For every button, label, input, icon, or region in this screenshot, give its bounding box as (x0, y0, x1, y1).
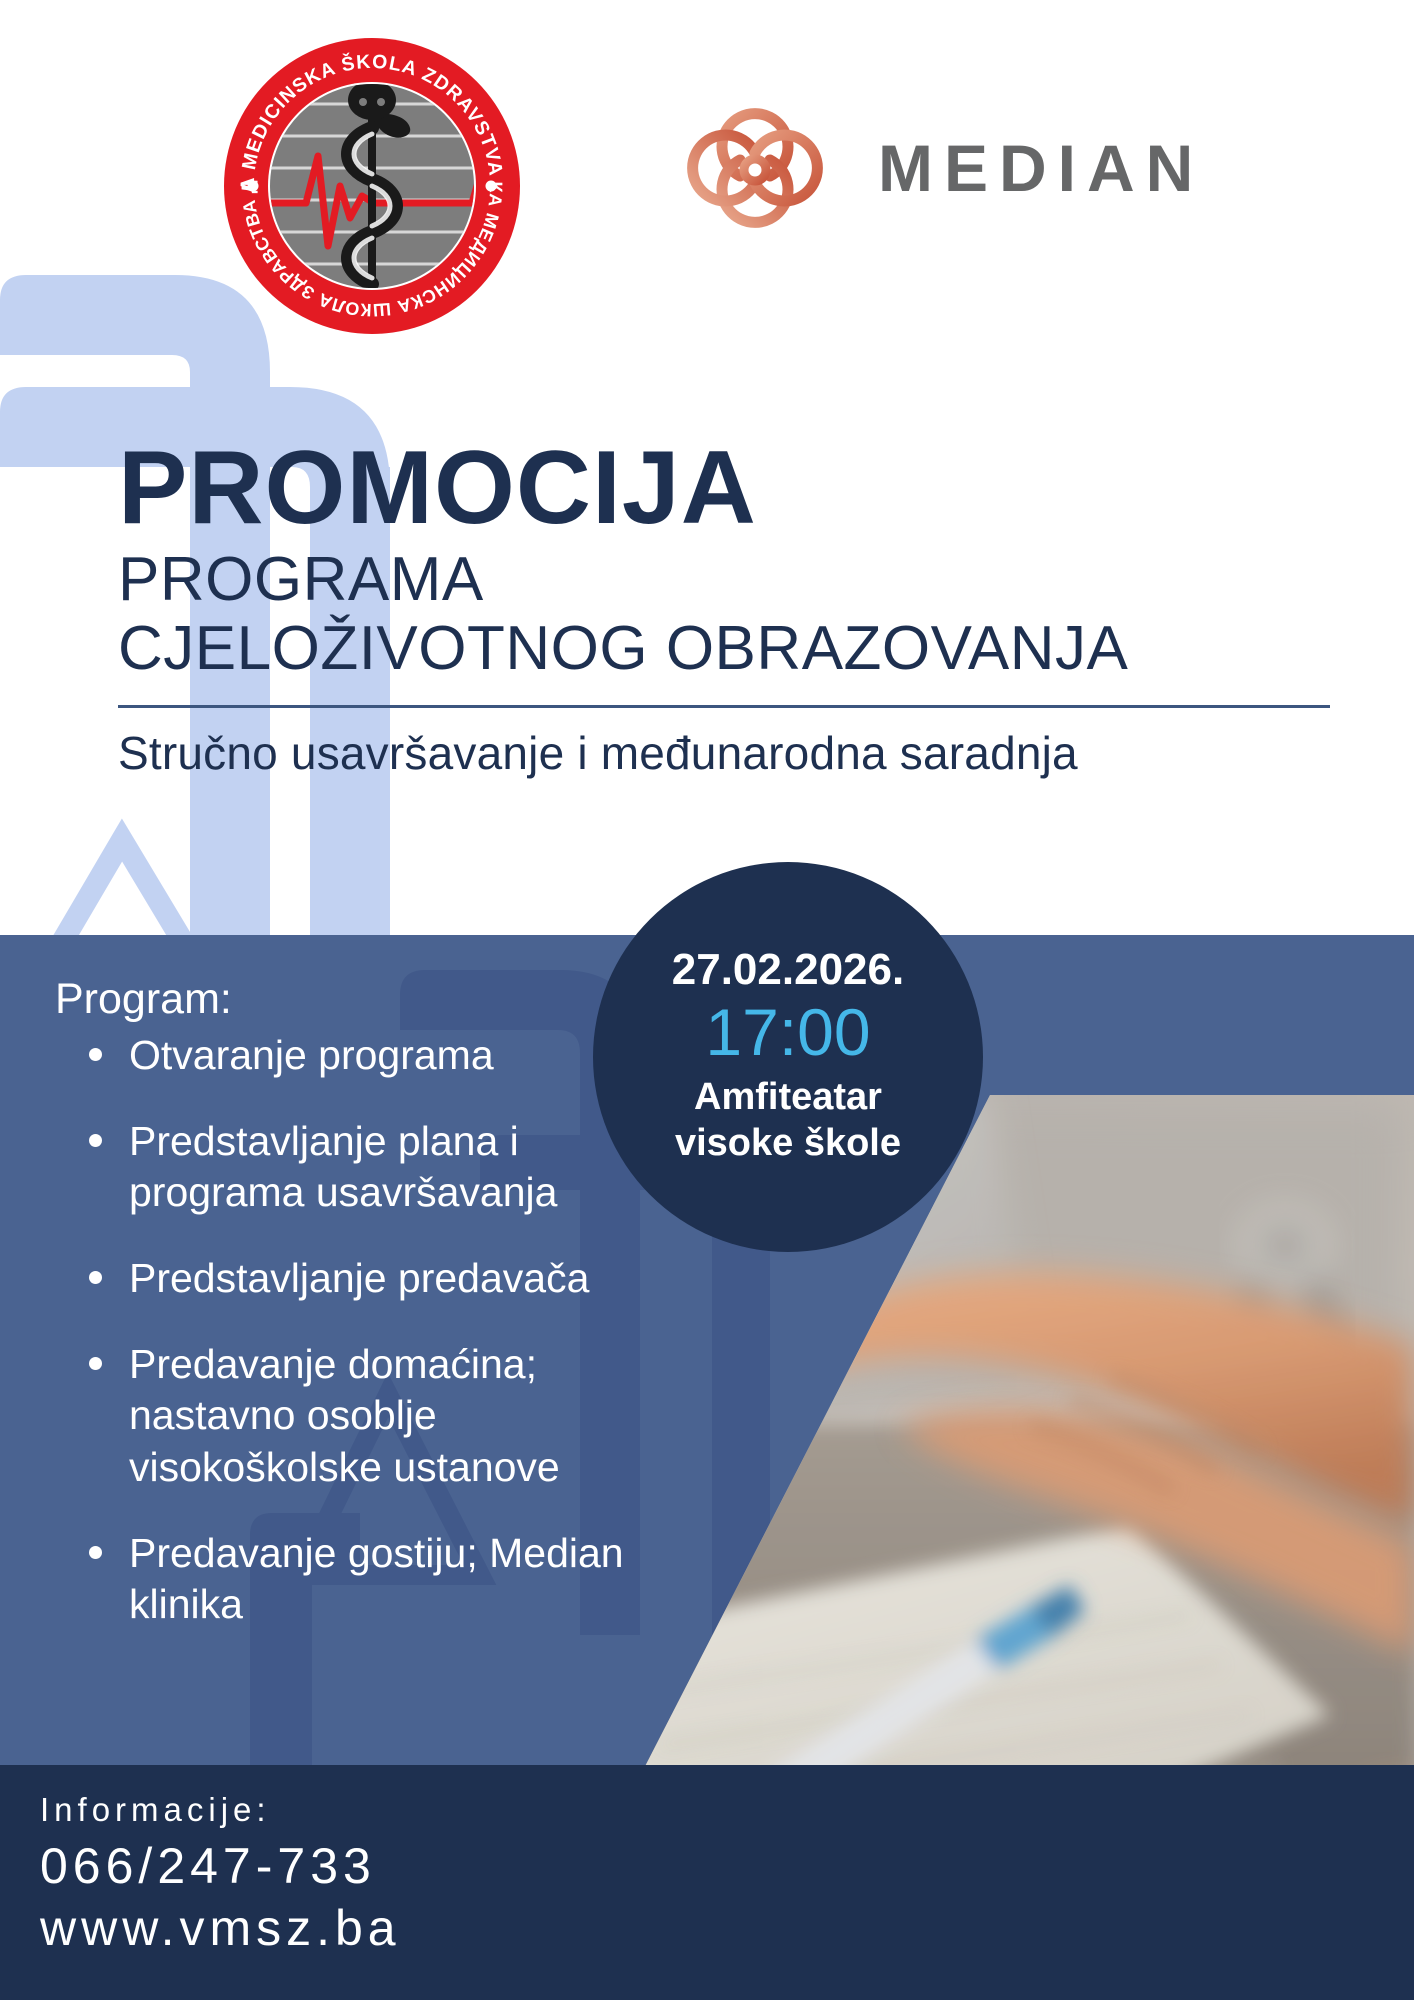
title-block: PROMOCIJA PROGRAMA CJELOŽIVOTNOG OBRAZOV… (118, 435, 1328, 780)
title-line-3: CJELOŽIVOTNOG OBRAZOVANJA (118, 616, 1328, 683)
title-tagline: Stručno usavršavanje i međunarodna sarad… (118, 726, 1328, 780)
bullet-icon (89, 1546, 102, 1559)
program-list: Otvaranje programa Predstavljanje plana … (55, 1030, 695, 1631)
event-date: 27.02.2026. (672, 948, 904, 992)
list-item-label: Predavanje domaćina; nastavno osoblje vi… (129, 1341, 560, 1490)
title-divider (118, 705, 1330, 708)
title-line-2: PROGRAMA (118, 547, 1328, 614)
list-item-label: Predstavljanje plana i programa usavršav… (129, 1118, 557, 1216)
contact-phone[interactable]: 066/247-733 (40, 1837, 401, 1895)
list-item: Predstavljanje plana i programa usavršav… (81, 1116, 695, 1219)
event-location-line2: visoke škole (675, 1121, 901, 1167)
median-clover-icon (660, 78, 850, 258)
median-wordmark: MEDIAN (878, 135, 1204, 201)
list-item: Predstavljanje predavača (81, 1253, 695, 1305)
info-label: Informacije: (40, 1791, 401, 1829)
poster-root: VISOKA MEDICINSKA ŠKOLA ZDRAVSTVA DOBOJ … (0, 0, 1414, 2000)
bullet-icon (89, 1271, 102, 1284)
event-time: 17:00 (705, 998, 870, 1067)
poster-footer: Informacije: 066/247-733 www.vmsz.ba (0, 1765, 1414, 2000)
median-logo: MEDIAN (660, 78, 1280, 258)
event-badge: 27.02.2026. 17:00 Amfiteatar visoke škol… (593, 862, 983, 1252)
list-item-label: Predstavljanje predavača (129, 1255, 589, 1301)
bullet-icon (89, 1357, 102, 1370)
list-item-label: Otvaranje programa (129, 1032, 494, 1078)
page-title: PROMOCIJA (118, 435, 1328, 541)
list-item-label: Predavanje gostiju; Median klinika (129, 1530, 624, 1628)
list-item: Predavanje domaćina; nastavno osoblje vi… (81, 1339, 695, 1494)
list-item: Predavanje gostiju; Median klinika (81, 1528, 695, 1631)
contact-website[interactable]: www.vmsz.ba (40, 1899, 401, 1957)
vmsz-emblem-icon: VISOKA MEDICINSKA ŠKOLA ZDRAVSTVA DOBOJ … (222, 36, 522, 336)
event-location-line1: Amfiteatar (694, 1075, 882, 1121)
bullet-icon (89, 1048, 102, 1061)
bullet-icon (89, 1134, 102, 1147)
poster-header: VISOKA MEDICINSKA ŠKOLA ZDRAVSTVA DOBOJ … (0, 0, 1414, 360)
